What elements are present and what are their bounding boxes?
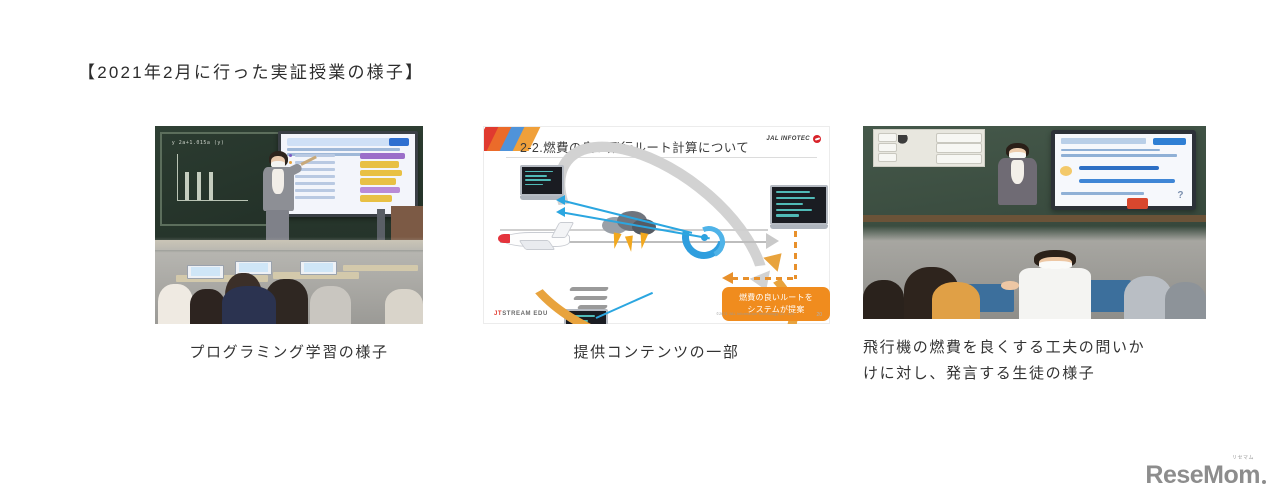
code-block	[360, 187, 400, 193]
student-figure	[863, 280, 904, 319]
photo-programming-lesson[interactable]: y 2a+1.015a (y)	[155, 126, 423, 324]
watermark-ruby: リセマム	[1232, 456, 1254, 461]
code-block	[360, 153, 406, 159]
whiteboard-badge	[389, 138, 409, 146]
sun-icon	[1060, 166, 1072, 176]
monitor-question-mark: ?	[1177, 190, 1183, 201]
student-figure	[310, 286, 350, 324]
monitor-route-bar	[1079, 179, 1175, 183]
watermark-brand: ReseMom	[1145, 461, 1260, 489]
jetstream-logo-prefix: JT	[494, 311, 502, 317]
code-block	[360, 195, 392, 201]
jetstream-edu-logo: JTSTREAM EDU	[494, 311, 548, 317]
palette-row	[295, 196, 336, 199]
red-object	[1127, 198, 1148, 209]
presentation-slide: 2-2.燃費の良い飛行ルート計算について JAL INFOTEC	[483, 126, 830, 324]
student-figure	[158, 284, 193, 324]
student-desk	[343, 265, 418, 271]
teacher-figure	[993, 143, 1041, 224]
speaking-student	[1014, 250, 1096, 319]
watermark-dot-icon	[1262, 480, 1266, 484]
teacher-figure	[257, 151, 300, 247]
jetstream-logo-name: STREAM EDU	[502, 311, 548, 317]
resemom-watermark: リセマム ReseMom	[1145, 463, 1266, 488]
tsurumaru-icon	[813, 135, 821, 143]
figure-caption: プログラミング学習の様子	[155, 340, 423, 366]
monitor-action-button	[1153, 138, 1186, 145]
caption-line-1: 飛行機の燃費を良くする工夫の問いか	[863, 335, 1206, 361]
palette-row	[295, 182, 336, 185]
programming-blocks	[360, 153, 406, 203]
jal-infotec-logo-text: JAL INFOTEC	[766, 136, 810, 142]
code-block	[360, 170, 402, 176]
classroom-monitor: ?	[1051, 130, 1196, 210]
classroom-poster	[873, 129, 985, 167]
code-block	[360, 178, 396, 184]
whiteboard-title-bar	[287, 138, 392, 145]
student-figure	[385, 289, 423, 324]
chalkboard-graph	[177, 154, 249, 202]
slide-copyright: ©2021 JAL Information Technology Co., Lt…	[716, 312, 795, 316]
chalk-tray	[863, 215, 1206, 222]
palette-row	[295, 189, 336, 192]
student-raised-hand	[1001, 281, 1019, 291]
whiteboard-text-line	[287, 148, 400, 151]
poster-figures	[898, 135, 929, 150]
monitor-heading-bar	[1061, 138, 1146, 144]
jal-infotec-logo: JAL INFOTEC	[766, 135, 821, 143]
page-title: 【2021年2月に行った実証授業の様子】	[78, 58, 424, 83]
chalkboard-note: y 2a+1.015a (y)	[172, 140, 225, 148]
student-figure	[222, 286, 276, 324]
palette-row	[295, 175, 336, 178]
student-figure	[1165, 282, 1206, 319]
student-laptop	[300, 261, 337, 275]
face-mask-icon	[1039, 261, 1072, 269]
slide-diagram: 燃費の良いルートを システムが提案 JTSTREAM EDU ©2021 JAL…	[484, 159, 829, 323]
photo-student-speaking[interactable]: ?	[863, 126, 1206, 319]
proposal-arrowhead-icon	[722, 272, 733, 284]
monitor-text-line	[1061, 154, 1176, 157]
monitor-text-line	[1061, 149, 1160, 152]
monitor-route-bar	[1079, 166, 1159, 170]
proposal-dashed-line	[732, 277, 796, 280]
slide-page-number: 20	[816, 312, 822, 318]
student-shirt	[1019, 268, 1091, 319]
figure-caption: 飛行機の燃費を良くする工夫の問いか けに対し、発言する生徒の様子	[863, 335, 1206, 388]
data-beam-arrowhead-icon	[556, 195, 565, 205]
code-block	[360, 161, 399, 167]
figure-student-speaking: ?	[863, 126, 1206, 388]
classroom-foreground	[155, 237, 423, 324]
caption-line-2: けに対し、発言する生徒の様子	[863, 361, 1206, 387]
laptop-calculation-icon	[770, 185, 828, 229]
monitor-text-line	[1061, 192, 1143, 195]
classroom-foreground	[863, 226, 1206, 319]
slide-provided-content[interactable]: 2-2.燃費の良い飛行ルート計算について JAL INFOTEC	[483, 126, 830, 324]
proposal-dashed-line	[794, 231, 797, 279]
teacher-shirt	[272, 169, 284, 194]
figure-caption: 提供コンテンツの一部	[483, 340, 830, 366]
teacher-shirt	[1011, 160, 1024, 184]
figure-provided-content: 2-2.燃費の良い飛行ルート計算について JAL INFOTEC	[483, 126, 830, 366]
watermark-text: リセマム ReseMom	[1145, 463, 1260, 488]
student-figure	[190, 289, 225, 324]
figure-programming-lesson: y 2a+1.015a (y)	[155, 126, 423, 366]
student-figure	[932, 282, 980, 319]
student-laptop	[187, 265, 224, 279]
callout-line-1: 燃費の良いルートを	[726, 292, 826, 304]
